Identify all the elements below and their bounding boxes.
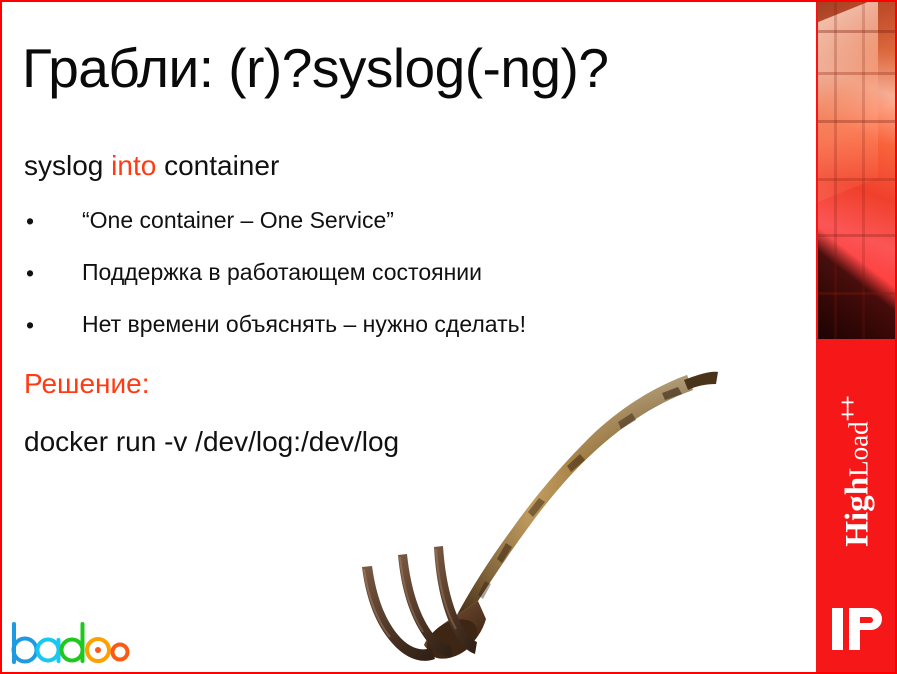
wordmark-plus: ++ [835,397,862,421]
pitchfork-rake-photo [332,367,822,672]
highload-wordmark: HighLoad++ [816,347,895,597]
bullet-item: • “One container – One Service” [24,208,744,260]
bullet-item: • Поддержка в работающем состоянии [24,260,744,312]
bullet-text: Нет времени объяснять – нужно сделать! [82,312,526,337]
abstract-red-architecture-photo [816,2,895,339]
bullet-marker-icon: • [26,210,34,233]
bullet-list: • “One container – One Service” • Поддер… [24,208,744,364]
wordmark-high: High [840,477,876,547]
lead-line: syslog into container [24,150,279,182]
bullet-text: Поддержка в работающем состоянии [82,260,482,285]
presentation-slide: HighLoad++ Грабли: (r)?syslog(-ng)? sysl… [0,0,897,674]
lead-accent: into [111,150,156,181]
bullet-marker-icon: • [26,262,34,285]
bullet-text: “One container – One Service” [82,208,394,233]
brand-rail: HighLoad++ [816,2,895,672]
wordmark-load: Load [844,421,874,476]
lead-before: syslog [24,150,111,181]
slide-title: Грабли: (r)?syslog(-ng)? [22,40,802,98]
solution-label: Решение: [24,368,150,400]
brand-rail-red-panel: HighLoad++ [816,339,895,672]
bullet-item: • Нет времени объяснять – нужно сделать! [24,312,744,364]
highload-logo-mark [830,604,882,654]
bullet-marker-icon: • [26,314,34,337]
lead-after: container [156,150,279,181]
badoo-logo [10,622,130,664]
